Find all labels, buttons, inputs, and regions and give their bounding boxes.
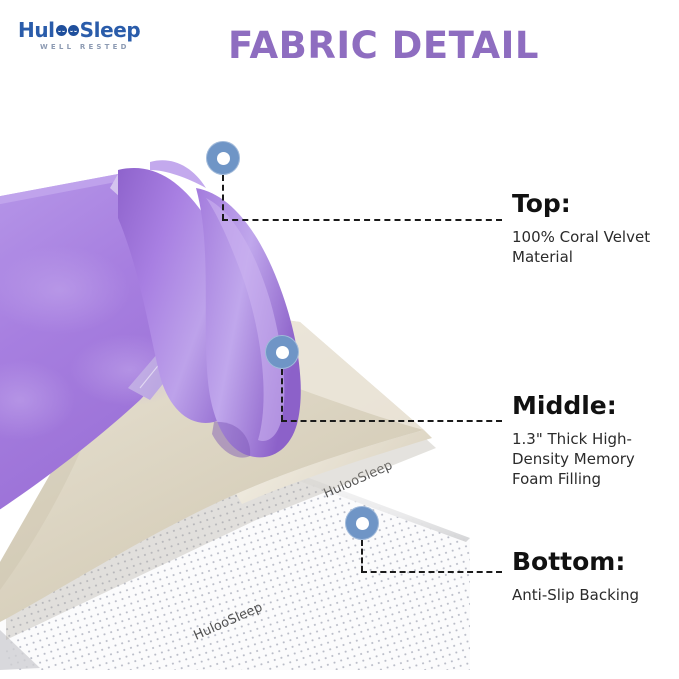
callout-marker-middle	[265, 335, 299, 369]
callout-top-heading: Top:	[512, 190, 672, 218]
page-title: FABRIC DETAIL	[228, 24, 539, 67]
callout-middle: Middle: 1.3" Thick High-Density Memory F…	[512, 392, 672, 489]
fabric-detail-infographic: Hul Sleep WELL RESTED FABRIC DETAIL	[0, 0, 679, 679]
callout-middle-heading: Middle:	[512, 392, 672, 420]
leader-line-middle-vertical	[281, 369, 283, 421]
leader-line-middle-horizontal	[281, 420, 502, 422]
logo-text-first: Hul	[18, 20, 55, 40]
sleepy-eyes-icon	[56, 25, 79, 36]
callout-middle-body: 1.3" Thick High-Density Memory Foam Fill…	[512, 429, 672, 490]
leader-line-bottom-horizontal	[361, 571, 502, 573]
callout-marker-top	[206, 141, 240, 175]
logo-wordmark: Hul Sleep	[18, 20, 158, 40]
leader-line-top-horizontal	[222, 219, 502, 221]
callout-top: Top: 100% Coral Velvet Material	[512, 190, 672, 267]
callout-top-body: 100% Coral Velvet Material	[512, 227, 672, 268]
callout-marker-bottom	[345, 506, 379, 540]
callout-bottom-body: Anti-Slip Backing	[512, 585, 672, 605]
callout-bottom: Bottom: Anti-Slip Backing	[512, 548, 672, 605]
logo-text-second: Sleep	[80, 20, 141, 40]
leader-line-bottom-vertical	[361, 540, 363, 572]
leader-line-top-vertical	[222, 175, 224, 220]
brand-logo: Hul Sleep WELL RESTED	[18, 20, 158, 60]
callout-bottom-heading: Bottom:	[512, 548, 672, 576]
logo-tagline: WELL RESTED	[18, 43, 158, 51]
